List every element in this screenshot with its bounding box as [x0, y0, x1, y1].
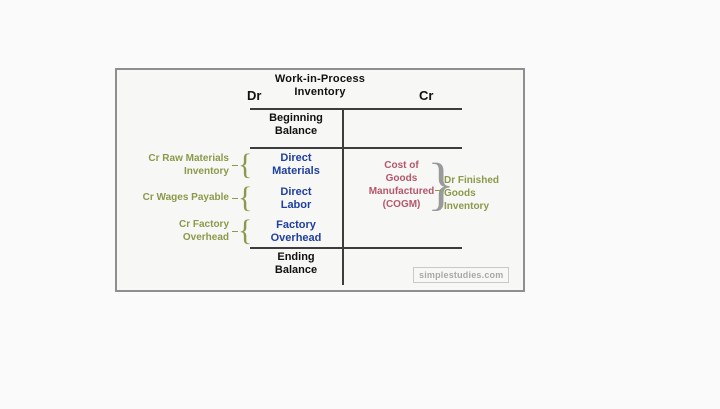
t-account-vertical-divider	[342, 108, 344, 285]
t-account-bottom-rule	[250, 247, 462, 249]
source-label-raw-materials-line-1: Cr Raw Materials	[125, 152, 229, 165]
debit-column-header: Dr	[247, 88, 261, 103]
entry-direct-labor-line-2: Labor	[250, 199, 342, 212]
connector-dash-finished-goods	[435, 190, 441, 191]
t-account-diagram: Work-in-Process Inventory Dr Cr Beginnin…	[115, 68, 525, 292]
entry-factory-overhead: Factory Overhead	[250, 219, 342, 245]
account-title-line-2: Inventory	[117, 86, 523, 99]
source-label-wages-payable-line-1: Cr Wages Payable	[125, 191, 229, 204]
entry-factory-overhead-line-2: Overhead	[250, 232, 342, 245]
entry-direct-labor-line-1: Direct	[250, 186, 342, 199]
entry-factory-overhead-line-1: Factory	[250, 219, 342, 232]
destination-label-line-3: Inventory	[444, 200, 524, 213]
source-label-wages-payable: Cr Wages Payable	[125, 191, 229, 204]
destination-label-line-2: Goods	[444, 187, 524, 200]
brace-left-wages-payable-icon: {	[238, 183, 252, 213]
entry-beginning-balance: Beginning Balance	[250, 112, 342, 138]
entry-beginning-balance-line-1: Beginning	[250, 112, 342, 125]
t-account-middle-rule	[250, 147, 462, 149]
brace-left-raw-materials-icon: {	[238, 150, 252, 180]
source-label-raw-materials: Cr Raw Materials Inventory	[125, 152, 229, 178]
watermark: simplestudies.com	[413, 267, 509, 283]
entry-direct-materials: Direct Materials	[250, 152, 342, 178]
source-label-factory-overhead: Cr Factory Overhead	[125, 218, 229, 244]
entry-direct-labor: Direct Labor	[250, 186, 342, 212]
destination-label-line-1: Dr Finished	[444, 174, 524, 187]
source-label-factory-overhead-line-2: Overhead	[125, 231, 229, 244]
entry-beginning-balance-line-2: Balance	[250, 125, 342, 138]
entry-direct-materials-line-2: Materials	[250, 165, 342, 178]
t-account-top-rule	[250, 108, 462, 110]
entry-direct-materials-line-1: Direct	[250, 152, 342, 165]
brace-left-factory-overhead-icon: {	[238, 216, 252, 246]
account-header: Work-in-Process Inventory	[117, 73, 523, 99]
source-label-factory-overhead-line-1: Cr Factory	[125, 218, 229, 231]
entry-ending-balance: Ending Balance	[250, 251, 342, 277]
source-label-raw-materials-line-2: Inventory	[125, 165, 229, 178]
entry-ending-balance-line-1: Ending	[250, 251, 342, 264]
account-title-line-1: Work-in-Process	[117, 73, 523, 86]
destination-label-finished-goods: Dr Finished Goods Inventory	[444, 174, 524, 213]
entry-ending-balance-line-2: Balance	[250, 264, 342, 277]
credit-column-header: Cr	[419, 88, 433, 103]
